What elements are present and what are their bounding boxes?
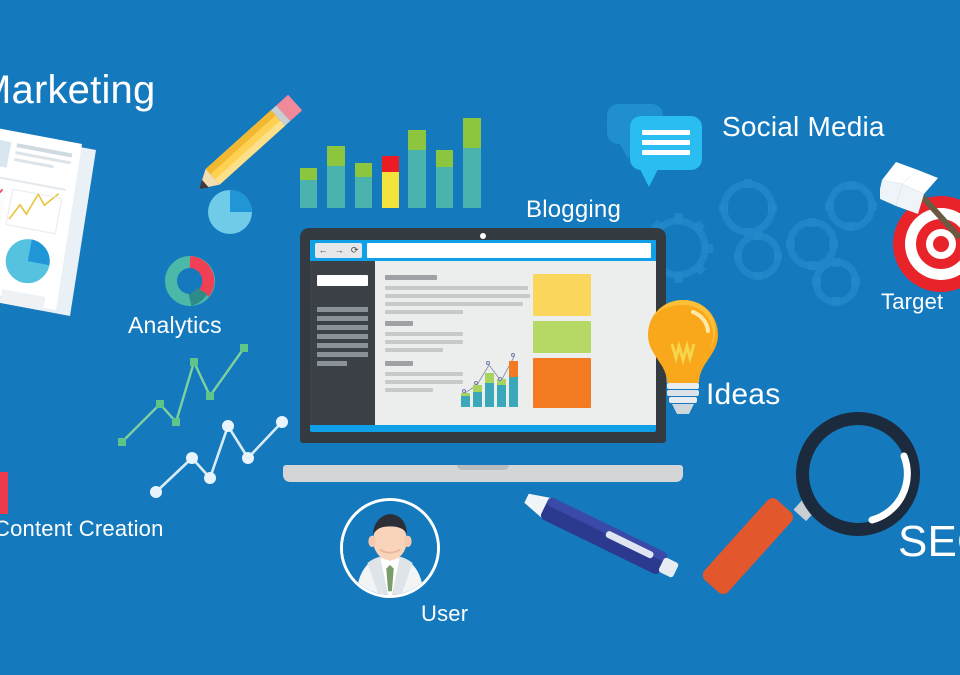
bubble-text-line — [642, 140, 690, 145]
bar-top — [327, 146, 345, 166]
bar-base — [300, 180, 317, 208]
bar-1 — [300, 168, 317, 208]
forward-arrow-icon[interactable]: → — [335, 246, 344, 255]
bar-base — [408, 150, 426, 208]
analytics-donut — [164, 255, 216, 307]
label-content-creation: Content Creation — [0, 516, 164, 542]
bar-top — [355, 163, 372, 177]
speech-bubble-front-tail — [639, 167, 659, 187]
mini-bar-top — [461, 393, 470, 396]
bar-base-highlight — [382, 172, 399, 208]
browser-content — [375, 261, 656, 425]
bar-base — [327, 166, 345, 208]
magnifier-icon — [760, 410, 935, 605]
card-orange[interactable] — [533, 358, 591, 408]
label-blogging: Blogging — [526, 196, 621, 224]
mini-bar-5 — [509, 361, 518, 407]
pen-icon — [508, 485, 698, 595]
chart-point — [462, 389, 466, 393]
content-text-line — [385, 332, 463, 336]
url-input[interactable] — [367, 243, 651, 258]
content-heading — [385, 361, 413, 366]
documents-icon — [0, 118, 140, 328]
chart-point — [486, 361, 490, 365]
magnifier-handle — [700, 495, 796, 597]
mini-bar-top — [485, 373, 494, 383]
mini-bar-base — [497, 385, 506, 407]
bar-2 — [327, 146, 345, 208]
mini-bar-base — [473, 392, 482, 407]
label-social-media: Social Media — [722, 111, 885, 143]
content-text-line — [385, 340, 463, 344]
screen-mini-bar-chart — [459, 343, 521, 407]
chart-point — [498, 377, 502, 381]
bar-3 — [355, 163, 372, 208]
mini-bar-top — [509, 361, 518, 377]
mini-bar-base — [461, 396, 470, 407]
label-user: User — [421, 601, 468, 627]
laptop-base-notch — [457, 465, 509, 470]
webcam-icon — [480, 233, 486, 239]
bar-base — [355, 177, 372, 208]
browser-navbar: ← → ⟳ — [310, 240, 656, 261]
laptop-device: ← → ⟳ — [283, 228, 683, 482]
laptop-base — [283, 465, 683, 482]
arrow-icon — [880, 160, 960, 270]
bar-base — [436, 167, 453, 208]
red-accent-block — [0, 472, 8, 514]
laptop-lid: ← → ⟳ — [300, 228, 666, 443]
bar-top — [408, 130, 426, 150]
content-text-line — [385, 348, 443, 352]
mini-bar-3 — [485, 373, 494, 407]
sidebar-menu-item[interactable] — [317, 361, 347, 366]
mini-bar-base — [485, 383, 494, 407]
speech-bubble-icon — [607, 104, 707, 196]
mini-bar-2 — [473, 385, 482, 407]
chart-point — [474, 381, 478, 385]
sidebar-menu-item[interactable] — [317, 352, 368, 357]
chart-point — [511, 353, 515, 357]
sidebar-menu-item[interactable] — [317, 343, 368, 348]
browser-nav-buttons[interactable]: ← → ⟳ — [315, 243, 362, 258]
label-target: Target — [881, 289, 943, 315]
label-seo: SEO — [898, 517, 960, 567]
content-text-line — [385, 286, 528, 290]
label-analytics: Analytics — [128, 312, 222, 339]
content-heading — [385, 321, 413, 326]
browser-sidebar — [310, 261, 375, 425]
content-text-line — [385, 388, 433, 392]
mini-bar-1 — [461, 393, 470, 407]
small-pie — [207, 189, 253, 235]
sidebar-menu-item[interactable] — [317, 316, 368, 321]
bar-4-highlight — [382, 156, 399, 208]
mini-bar-base — [509, 377, 518, 407]
reload-icon[interactable]: ⟳ — [351, 246, 359, 255]
bar-base — [463, 148, 481, 208]
label-marketing: Marketing — [0, 68, 155, 113]
bar-5 — [408, 130, 426, 208]
mini-bar-top — [473, 385, 482, 392]
bar-top-highlight — [382, 156, 399, 172]
bubble-text-line — [642, 130, 690, 135]
content-text-line — [385, 310, 463, 314]
back-arrow-icon[interactable]: ← — [319, 246, 328, 255]
sidebar-menu-item[interactable] — [317, 334, 368, 339]
bubble-text-line — [642, 150, 690, 155]
sidebar-menu-item[interactable] — [317, 307, 368, 312]
infographic-canvas: ← → ⟳ — [0, 0, 960, 675]
card-green[interactable] — [533, 321, 591, 353]
bar-6 — [436, 150, 453, 208]
content-text-line — [385, 372, 463, 376]
hero-bar-chart — [300, 100, 448, 208]
browser-window: ← → ⟳ — [310, 240, 656, 425]
bar-top — [463, 118, 481, 148]
sidebar-search-input[interactable] — [317, 275, 368, 286]
content-text-line — [385, 302, 523, 306]
bar-top — [436, 150, 453, 167]
user-avatar-icon[interactable] — [340, 498, 440, 598]
content-text-line — [385, 380, 463, 384]
card-yellow[interactable] — [533, 274, 591, 316]
content-text-line — [385, 294, 530, 298]
bar-7 — [463, 118, 481, 208]
label-ideas: Ideas — [706, 378, 780, 412]
bar-top — [300, 168, 317, 180]
sidebar-menu-item[interactable] — [317, 325, 368, 330]
content-heading — [385, 275, 437, 280]
mini-bar-4 — [497, 379, 506, 407]
